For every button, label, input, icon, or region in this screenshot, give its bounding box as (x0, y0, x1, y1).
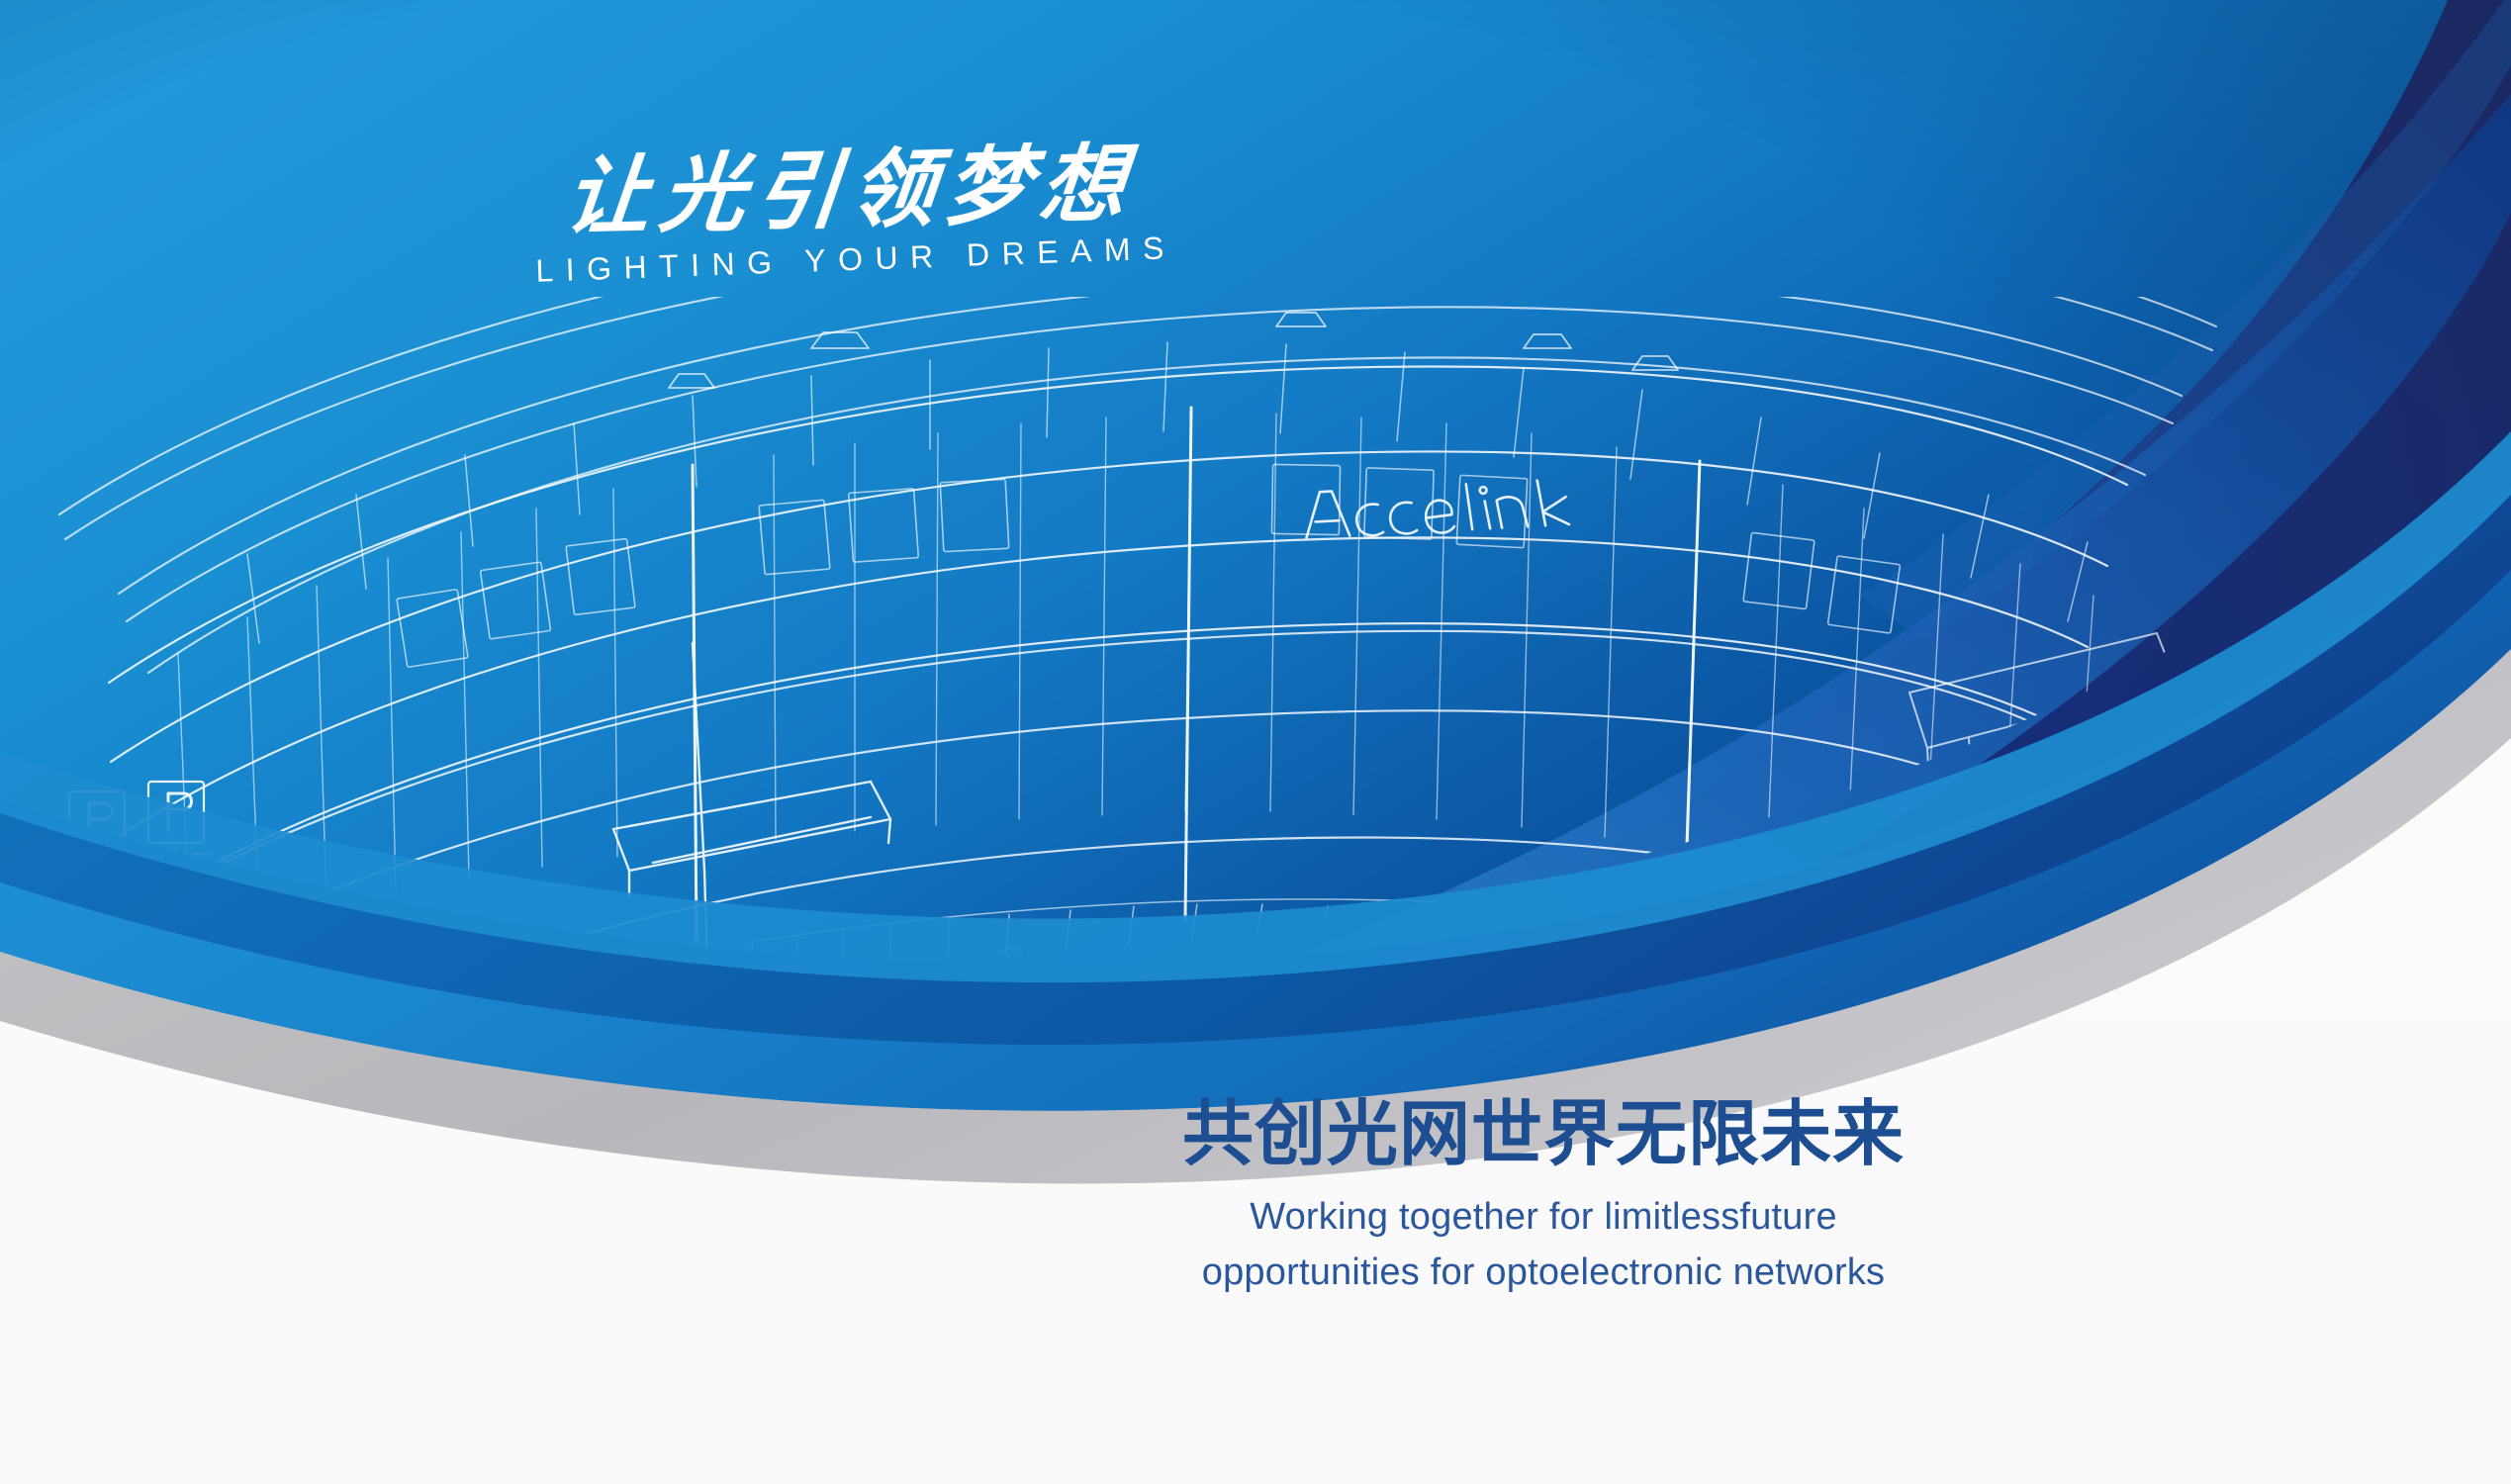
cover-slide: 让光引领梦想 LIGHTING YOUR DREAMS 共创光网世界无限未来 W… (0, 0, 2511, 1484)
cover-artwork (0, 0, 2511, 1484)
